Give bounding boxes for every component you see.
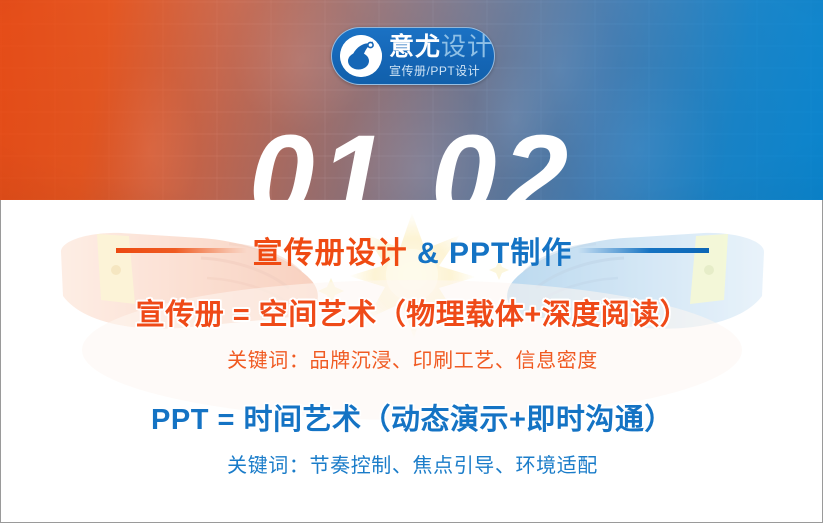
logo-text-group: 意尤设计 宣传册/PPT设计 (389, 35, 493, 77)
logo-subtitle: 宣传册/PPT设计 (389, 65, 493, 77)
ghost-section-numbers: 01 02 (0, 118, 823, 201)
content-panel: 宣传册设计 & PPT制作 宣传册 = 空间艺术（物理载体+深度阅读） 关键词：… (0, 200, 823, 523)
logo-title-dim: 设计 (441, 33, 493, 61)
header-banner: 01 02 意尤设计 宣传册/PPT设计 (0, 0, 823, 201)
section-headline: 宣传册设计 & PPT制作 (1, 228, 823, 272)
headline-separator: & (408, 237, 449, 270)
logo-badge[interactable]: 意尤设计 宣传册/PPT设计 (331, 27, 495, 85)
ppt-statement: PPT = 时间艺术（动态演示+即时沟通） (1, 403, 823, 438)
slide-canvas: 01 02 意尤设计 宣传册/PPT设计 (0, 0, 823, 523)
headline-rule-left (116, 248, 247, 253)
headline-blue-part: PPT制作 (449, 237, 572, 270)
statement-block-brochure: 宣传册 = 空间艺术（物理载体+深度阅读） 关键词：品牌沉浸、印刷工艺、信息密度 (1, 298, 823, 373)
brochure-statement: 宣传册 = 空间艺术（物理载体+深度阅读） (1, 298, 823, 333)
headline-rule-right (578, 248, 709, 253)
statement-block-ppt: PPT = 时间艺术（动态演示+即时沟通） 关键词：节奏控制、焦点引导、环境适配 (1, 403, 823, 478)
brochure-keywords: 关键词：品牌沉浸、印刷工艺、信息密度 (1, 344, 823, 373)
logo-title-main: 意尤 (389, 33, 441, 61)
ppt-keywords: 关键词：节奏控制、焦点引导、环境适配 (1, 449, 823, 478)
brush-circle-icon (340, 35, 382, 77)
headline-text: 宣传册设计 & PPT制作 (253, 228, 573, 272)
logo-title: 意尤设计 (389, 35, 493, 60)
headline-orange-part: 宣传册设计 (253, 237, 408, 270)
